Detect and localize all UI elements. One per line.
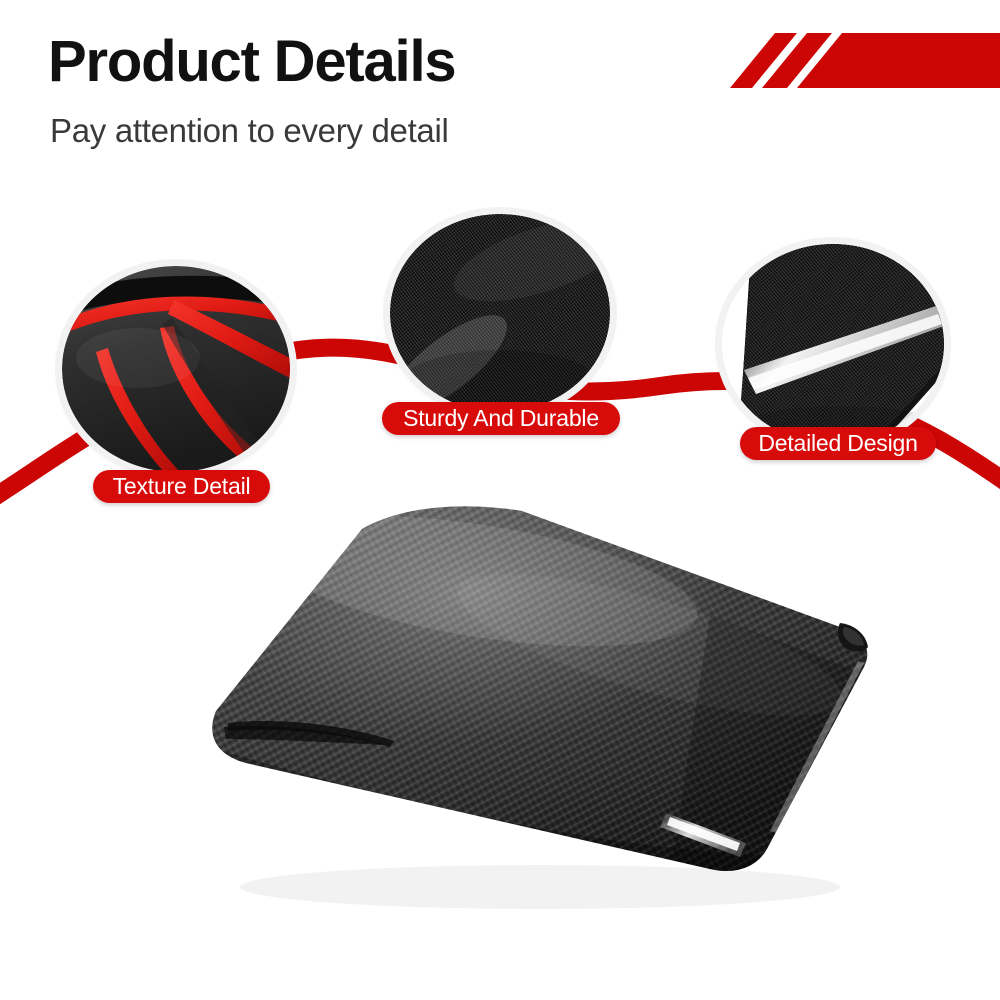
page-title: Product Details xyxy=(48,32,455,93)
sturdy-highlight-overlay xyxy=(390,214,610,412)
callout-image-sturdy-and-durable xyxy=(390,214,610,412)
callout-texture-detail[interactable]: Texture Detail xyxy=(62,266,290,472)
stripes-svg xyxy=(700,0,1000,130)
product-illustration xyxy=(150,495,910,935)
callout-label-sturdy-and-durable[interactable]: Sturdy And Durable xyxy=(382,402,620,435)
texture-detail-illustration xyxy=(62,266,290,472)
product-image xyxy=(150,495,910,935)
detailed-design-edge-highlight xyxy=(722,244,944,444)
product-shadow xyxy=(240,865,840,909)
page-subtitle: Pay attention to every detail xyxy=(50,112,449,150)
callout-circle-detailed-design xyxy=(722,244,944,444)
header: Product Details Pay attention to every d… xyxy=(0,0,1000,190)
callout-circle-texture-detail xyxy=(62,266,290,472)
callout-detailed-design[interactable]: Detailed Design xyxy=(722,244,944,444)
stripe-block xyxy=(797,33,1000,88)
callout-label-detailed-design[interactable]: Detailed Design xyxy=(740,427,936,460)
diagonal-stripes-decoration xyxy=(700,0,1000,130)
callout-circle-sturdy-and-durable xyxy=(390,214,610,412)
callout-sturdy-and-durable[interactable]: Sturdy And Durable xyxy=(390,214,610,412)
callout-image-detailed-design xyxy=(722,244,944,444)
callout-image-texture-detail xyxy=(62,266,290,472)
